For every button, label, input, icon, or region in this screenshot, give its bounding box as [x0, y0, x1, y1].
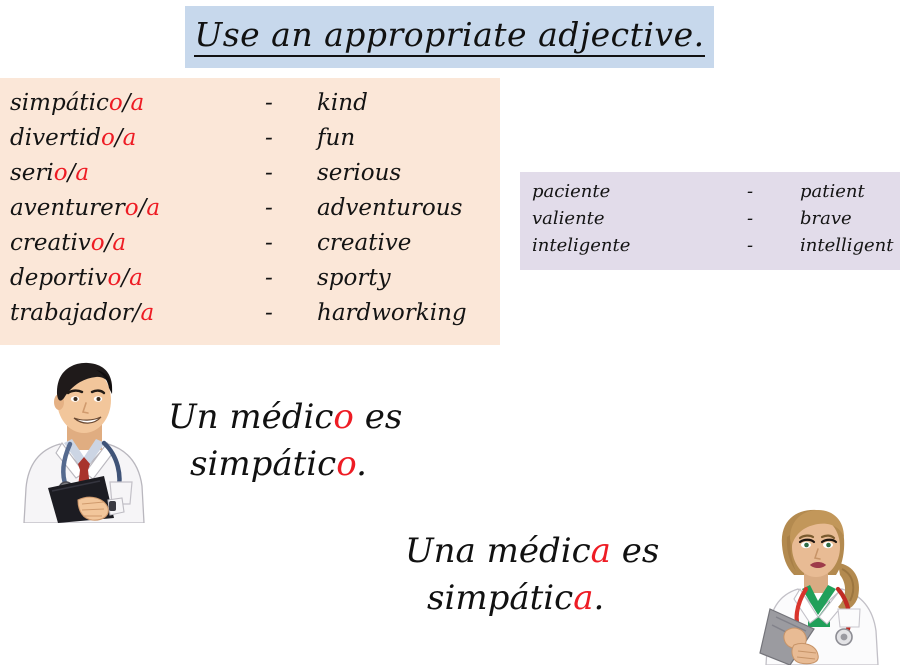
sentence-feminine-tail1: es: [611, 531, 659, 571]
title-band: Use an appropriate adjective.: [185, 6, 714, 68]
gendered-adjectives-box: simpático/a-kinddivertido/a-funserio/a-s…: [0, 78, 500, 345]
english-translation: hardworking: [317, 300, 467, 326]
gender-ending: o: [125, 195, 139, 221]
invariable-adjectives-box: paciente-patientvaliente-braveinteligent…: [520, 172, 900, 270]
adjective-stem: simpátic: [10, 90, 109, 116]
sentence-feminine-stem1: Una médic: [405, 531, 591, 571]
english-translation: adventurous: [317, 195, 462, 221]
gendered-adjectives-list: simpático/a-kinddivertido/a-funserio/a-s…: [10, 90, 500, 335]
sentence-masculine-tail1: es: [354, 397, 402, 437]
english-translation: fun: [317, 125, 355, 151]
sentence-masculine-stem1: Un médic: [168, 397, 333, 437]
gender-ending: a: [75, 160, 89, 186]
separator-dash: -: [747, 181, 800, 202]
adjective-row: trabajador/a-hardworking: [10, 300, 500, 335]
gender-slash: /: [121, 265, 129, 291]
english-translation: kind: [317, 90, 368, 116]
gender-ending: o: [91, 230, 105, 256]
example-sentence-feminine: Una médica es simpática.: [405, 528, 755, 622]
male-doctor-svg: [12, 358, 157, 523]
gender-ending: o: [54, 160, 68, 186]
english-translation: brave: [800, 208, 852, 229]
sentence-feminine-line1: Una médica es: [405, 531, 659, 571]
spanish-adjective: valiente: [532, 208, 747, 229]
adjective-row: serio/a-serious: [10, 160, 500, 195]
spanish-adjective: divertido/a: [10, 125, 265, 151]
sentence-feminine-stem2: simpátic: [427, 578, 573, 618]
sentence-masculine-tail2: .: [356, 444, 367, 484]
sentence-masculine-line2: simpático.: [168, 441, 498, 488]
spanish-adjective: trabajador/a: [10, 300, 265, 326]
sentence-masculine-line1: Un médico es: [168, 397, 402, 437]
sentence-masculine-ending2: o: [336, 444, 356, 484]
english-translation: intelligent: [800, 235, 894, 256]
spanish-adjective: paciente: [532, 181, 747, 202]
gender-ending: a: [112, 230, 126, 256]
gender-slash: /: [133, 300, 141, 326]
adjective-row: simpático/a-kind: [10, 90, 500, 125]
english-translation: patient: [800, 181, 865, 202]
separator-dash: -: [747, 235, 800, 256]
sentence-masculine-ending1: o: [333, 397, 353, 437]
slide-canvas: Use an appropriate adjective. simpático/…: [0, 0, 900, 670]
gender-ending: o: [109, 90, 123, 116]
spanish-adjective: inteligente: [532, 235, 747, 256]
gender-slash: /: [123, 90, 131, 116]
sentence-feminine-ending2: a: [573, 578, 593, 618]
example-sentence-masculine: Un médico es simpático.: [168, 394, 498, 488]
separator-dash: -: [265, 160, 317, 186]
female-doctor-svg: [742, 505, 894, 665]
english-translation: creative: [317, 230, 411, 256]
gender-ending: a: [131, 90, 145, 116]
gender-slash: /: [115, 125, 123, 151]
adjective-stem: seri: [10, 160, 54, 186]
separator-dash: -: [265, 300, 317, 326]
page-title: Use an appropriate adjective.: [194, 17, 704, 57]
english-translation: serious: [317, 160, 401, 186]
adjective-row: aventurero/a-adventurous: [10, 195, 500, 230]
gender-ending: o: [108, 265, 122, 291]
sentence-masculine-stem2: simpátic: [190, 444, 336, 484]
separator-dash: -: [265, 230, 317, 256]
gender-ending: o: [101, 125, 115, 151]
gender-ending: a: [146, 195, 160, 221]
separator-dash: -: [265, 195, 317, 221]
male-doctor-illustration: [12, 358, 157, 523]
sentence-feminine-ending1: a: [591, 531, 611, 571]
adjective-row: divertido/a-fun: [10, 125, 500, 160]
separator-dash: -: [265, 265, 317, 291]
adjective-stem: deportiv: [10, 265, 108, 291]
gender-ending: a: [141, 300, 155, 326]
spanish-adjective: deportivo/a: [10, 265, 265, 291]
spanish-adjective: creativo/a: [10, 230, 265, 256]
female-doctor-illustration: [742, 505, 894, 665]
adjective-row: deportivo/a-sporty: [10, 265, 500, 300]
separator-dash: -: [265, 125, 317, 151]
adjective-stem: divertid: [10, 125, 101, 151]
spanish-adjective: serio/a: [10, 160, 265, 186]
english-translation: sporty: [317, 265, 391, 291]
adjective-row: creativo/a-creative: [10, 230, 500, 265]
adjective-stem: aventurer: [10, 195, 125, 221]
invariable-adjective-row: valiente-brave: [532, 208, 900, 235]
spanish-adjective: simpático/a: [10, 90, 265, 116]
gender-ending: a: [123, 125, 137, 151]
spanish-adjective: aventurero/a: [10, 195, 265, 221]
adjective-stem: trabajador: [10, 300, 133, 326]
separator-dash: -: [747, 208, 800, 229]
sentence-feminine-line2: simpática.: [405, 575, 755, 622]
sentence-feminine-tail2: .: [593, 578, 604, 618]
gender-ending: a: [129, 265, 143, 291]
separator-dash: -: [265, 90, 317, 116]
invariable-adjective-row: paciente-patient: [532, 181, 900, 208]
invariable-adjectives-list: paciente-patientvaliente-braveinteligent…: [532, 181, 900, 262]
adjective-stem: creativ: [10, 230, 91, 256]
invariable-adjective-row: inteligente-intelligent: [532, 235, 900, 262]
